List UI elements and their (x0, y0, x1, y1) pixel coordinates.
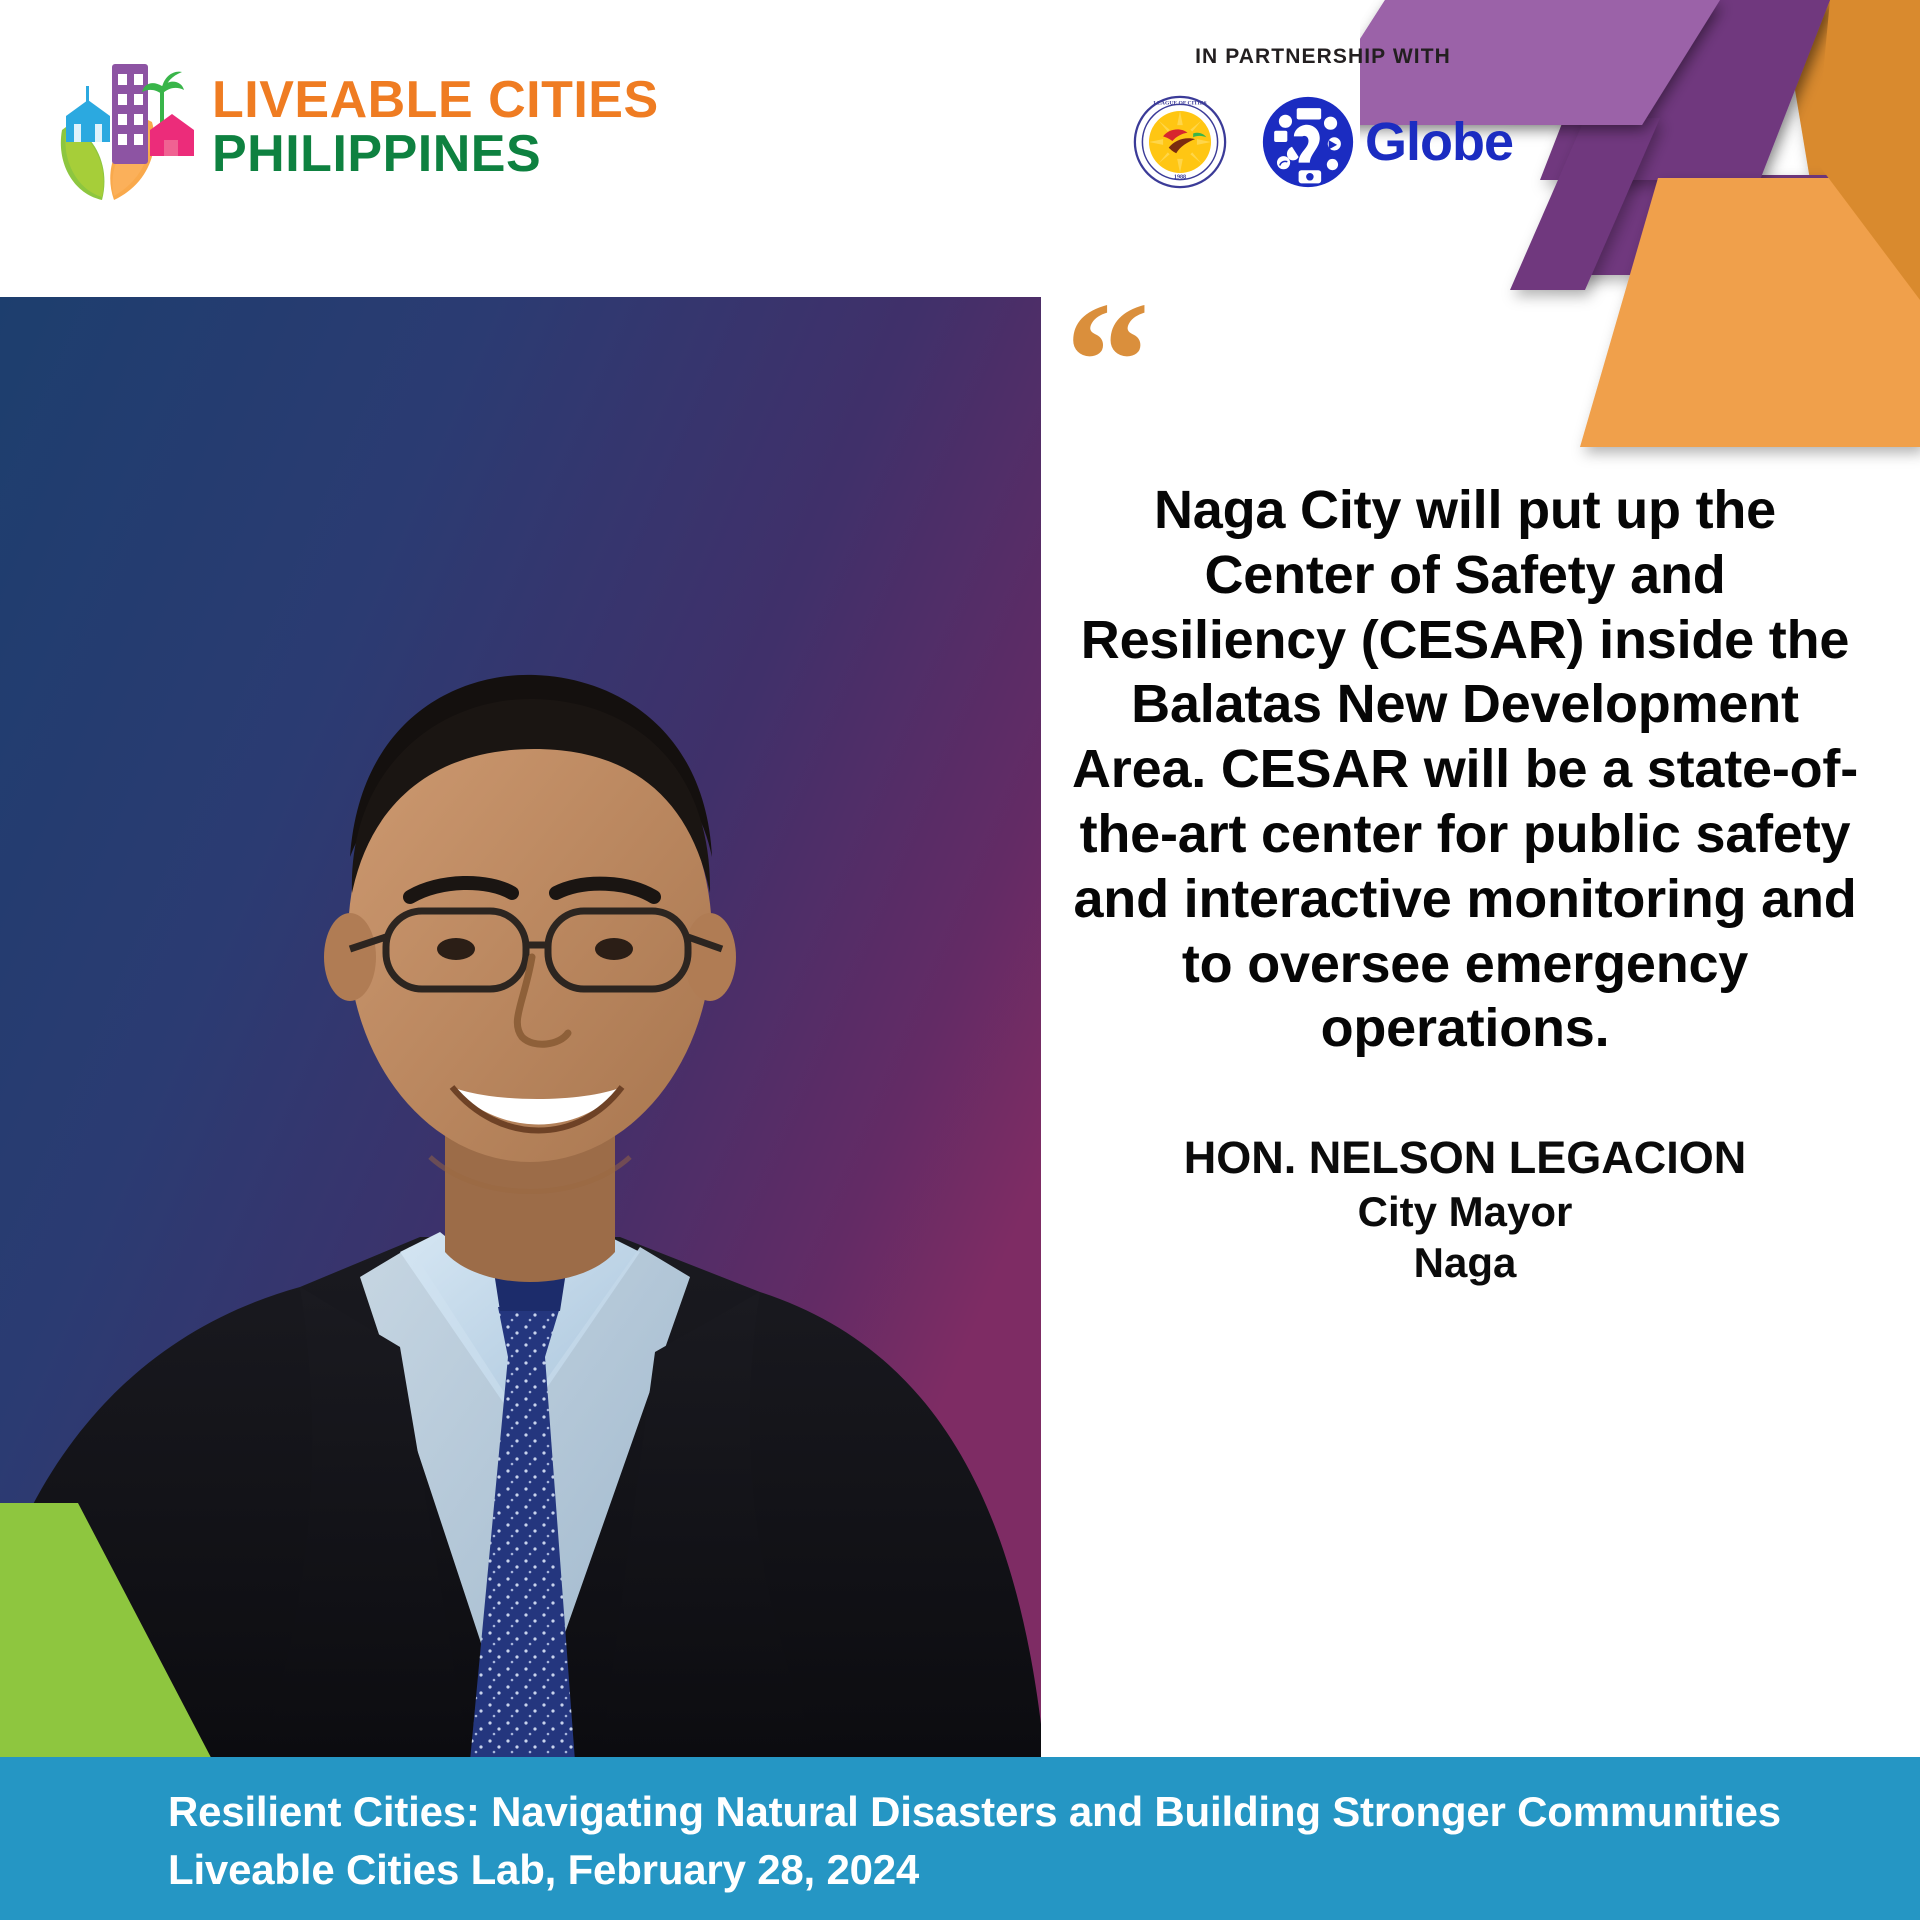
partnership-logos: 1988 LEAGUE OF CITIES (1153, 95, 1493, 189)
brand-line-1: LIVEABLE CITIES (212, 73, 659, 127)
event-banner: Resilient Cities: Navigating Natural Dis… (0, 1757, 1920, 1920)
partnership-block: IN PARTNERSHIP WITH 1988 LEAGUE OF (1153, 45, 1493, 189)
speaker-city: Naga (1065, 1237, 1865, 1288)
globe-telecom-logo-icon (1261, 95, 1355, 189)
globe-logo-lockup[interactable]: Globe (1261, 95, 1513, 189)
seal-year: 1988 (1174, 175, 1186, 181)
event-banner-text: Resilient Cities: Navigating Natural Dis… (168, 1783, 1781, 1899)
portrait-illustration (0, 297, 1041, 1761)
speaker-role: City Mayor (1065, 1186, 1865, 1237)
svg-text:LEAGUE OF CITIES: LEAGUE OF CITIES (1153, 100, 1206, 106)
speaker-name: HON. NELSON LEGACION (1065, 1131, 1865, 1186)
event-title: Resilient Cities: Navigating Natural Dis… (168, 1783, 1781, 1841)
league-of-cities-of-the-philippines-seal-icon[interactable]: 1988 LEAGUE OF CITIES (1133, 95, 1227, 189)
brand-logo[interactable]: LIVEABLE CITIES PHILIPPINES (52, 52, 659, 202)
brand-wordmark: LIVEABLE CITIES PHILIPPINES (212, 73, 659, 181)
quote-text: Naga City will put up the Center of Safe… (1065, 478, 1865, 1061)
city-hand-leaf-logo-icon (52, 52, 200, 202)
speaker-portrait-photo (0, 297, 1041, 1761)
open-quote-icon: “ (1065, 300, 1865, 420)
header: LIVEABLE CITIES PHILIPPINES IN PARTNERSH… (0, 0, 1920, 297)
globe-wordmark: Globe (1365, 115, 1513, 169)
brand-line-2: PHILIPPINES (212, 127, 659, 181)
partnership-label: IN PARTNERSHIP WITH (1153, 45, 1493, 69)
quote-block: “ Naga City will put up the Center of Sa… (1065, 300, 1865, 1289)
event-subtitle: Liveable Cities Lab, February 28, 2024 (168, 1841, 1781, 1899)
attribution: HON. NELSON LEGACION City Mayor Naga (1065, 1131, 1865, 1288)
